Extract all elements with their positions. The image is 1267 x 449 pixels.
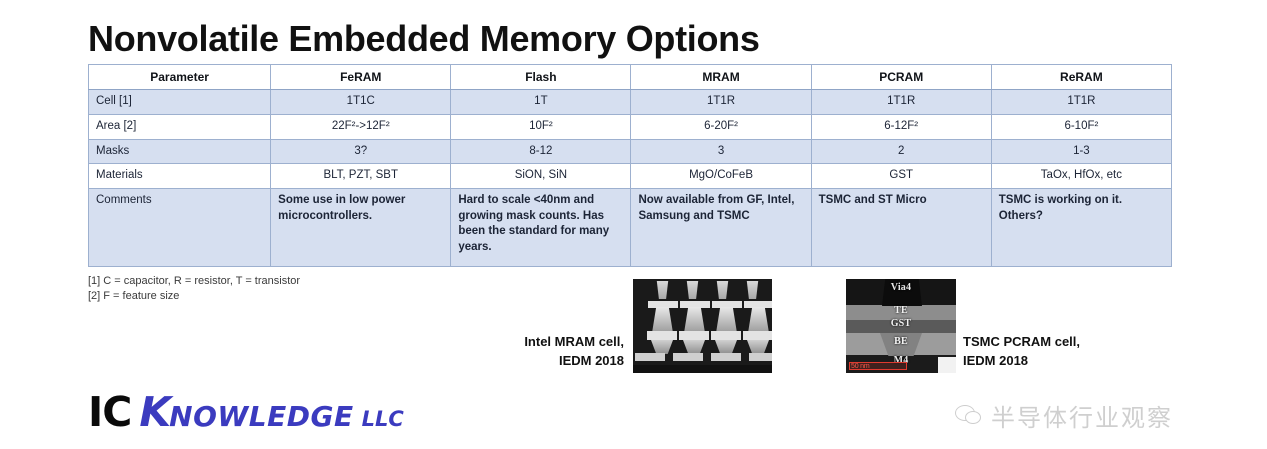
column-header-flash: Flash — [451, 65, 631, 90]
pcram-layer-label-te: TE — [846, 305, 956, 316]
logo-text-ic: IC — [88, 388, 131, 436]
cell-value: GST — [811, 164, 991, 189]
watermark: 半导体行业观察 — [955, 398, 1173, 433]
cell-value: TaOx, HfOx, etc — [991, 164, 1171, 189]
footnotes: [1] C = capacitor, R = resistor, T = tra… — [88, 274, 300, 304]
pcram-layer-label-be: BE — [846, 336, 956, 347]
intel-mram-caption-line2: IEDM 2018 — [452, 352, 624, 371]
table-row: Materials BLT, PZT, SBT SiON, SiN MgO/Co… — [89, 164, 1172, 189]
cell-value: 3? — [271, 139, 451, 164]
cell-value: 10F² — [451, 114, 631, 139]
footnote-1: [1] C = capacitor, R = resistor, T = tra… — [88, 274, 300, 289]
cell-value: 1T1R — [811, 90, 991, 115]
column-header-pcram: PCRAM — [811, 65, 991, 90]
column-header-parameter: Parameter — [89, 65, 271, 90]
cell-value: 1T — [451, 90, 631, 115]
column-header-mram: MRAM — [631, 65, 811, 90]
pcram-layer-label-gst: GST — [846, 318, 956, 329]
column-header-feram: FeRAM — [271, 65, 451, 90]
memory-options-table: Parameter FeRAM Flash MRAM PCRAM ReRAM C… — [88, 64, 1172, 267]
slide-canvas: Nonvolatile Embedded Memory Options Para… — [0, 0, 1267, 449]
footnote-2: [2] F = feature size — [88, 289, 300, 304]
cell-value: 1T1C — [271, 90, 451, 115]
cell-value: 1T1R — [631, 90, 811, 115]
scale-bar-label: 50 nm — [851, 363, 869, 370]
tsmc-pcram-caption-line1: TSMC PCRAM cell, — [963, 333, 1163, 352]
column-header-reram: ReRAM — [991, 65, 1171, 90]
row-label-masks: Masks — [89, 139, 271, 164]
cell-value: MgO/CoFeB — [631, 164, 811, 189]
cell-value: TSMC and ST Micro — [811, 189, 991, 267]
cell-value: 6-20F² — [631, 114, 811, 139]
table-row: Comments Some use in low power microcont… — [89, 189, 1172, 267]
cell-value: BLT, PZT, SBT — [271, 164, 451, 189]
memory-options-table-container: Parameter FeRAM Flash MRAM PCRAM ReRAM C… — [88, 64, 1172, 267]
row-label-materials: Materials — [89, 164, 271, 189]
page-title: Nonvolatile Embedded Memory Options — [88, 18, 1178, 59]
cell-value: SiON, SiN — [451, 164, 631, 189]
image-corner-notch — [938, 357, 956, 373]
table-header-row: Parameter FeRAM Flash MRAM PCRAM ReRAM — [89, 65, 1172, 90]
logo-text-nowledge: NOWLEDGE — [169, 400, 353, 433]
intel-mram-caption-line1: Intel MRAM cell, — [452, 333, 624, 352]
tsmc-pcram-caption: TSMC PCRAM cell, IEDM 2018 — [963, 333, 1163, 371]
table-row: Cell [1] 1T1C 1T 1T1R 1T1R 1T1R — [89, 90, 1172, 115]
watermark-text: 半导体行业观察 — [991, 398, 1173, 433]
row-label-area: Area [2] — [89, 114, 271, 139]
cell-value: 6-10F² — [991, 114, 1171, 139]
logo-text-k: K — [139, 388, 171, 436]
pcram-layer-label-via4: Via4 — [846, 282, 956, 293]
cell-value: 2 — [811, 139, 991, 164]
cell-value: 6-12F² — [811, 114, 991, 139]
cell-value: Now available from GF, Intel, Samsung an… — [631, 189, 811, 267]
wechat-icon — [955, 405, 982, 427]
intel-mram-caption: Intel MRAM cell, IEDM 2018 — [452, 333, 624, 371]
cell-value: 1-3 — [991, 139, 1171, 164]
row-label-comments: Comments — [89, 189, 271, 267]
row-label-cell: Cell [1] — [89, 90, 271, 115]
tsmc-pcram-caption-line2: IEDM 2018 — [963, 352, 1163, 371]
cell-value: TSMC is working on it. Others? — [991, 189, 1171, 267]
logo-text-llc: LLC — [362, 407, 404, 431]
cell-value: Hard to scale <40nm and growing mask cou… — [451, 189, 631, 267]
intel-mram-tem-image — [633, 279, 772, 373]
table-row: Area [2] 22F²->12F² 10F² 6-20F² 6-12F² 6… — [89, 114, 1172, 139]
cell-value: 8-12 — [451, 139, 631, 164]
tsmc-pcram-tem-image: Via4 TE GST BE M4 50 nm — [846, 279, 956, 373]
cell-value: Some use in low power microcontrollers. — [271, 189, 451, 267]
ic-knowledge-logo: IC K NOWLEDGE LLC — [88, 388, 404, 436]
cell-value: 3 — [631, 139, 811, 164]
cell-value: 22F²->12F² — [271, 114, 451, 139]
cell-value: 1T1R — [991, 90, 1171, 115]
table-row: Masks 3? 8-12 3 2 1-3 — [89, 139, 1172, 164]
